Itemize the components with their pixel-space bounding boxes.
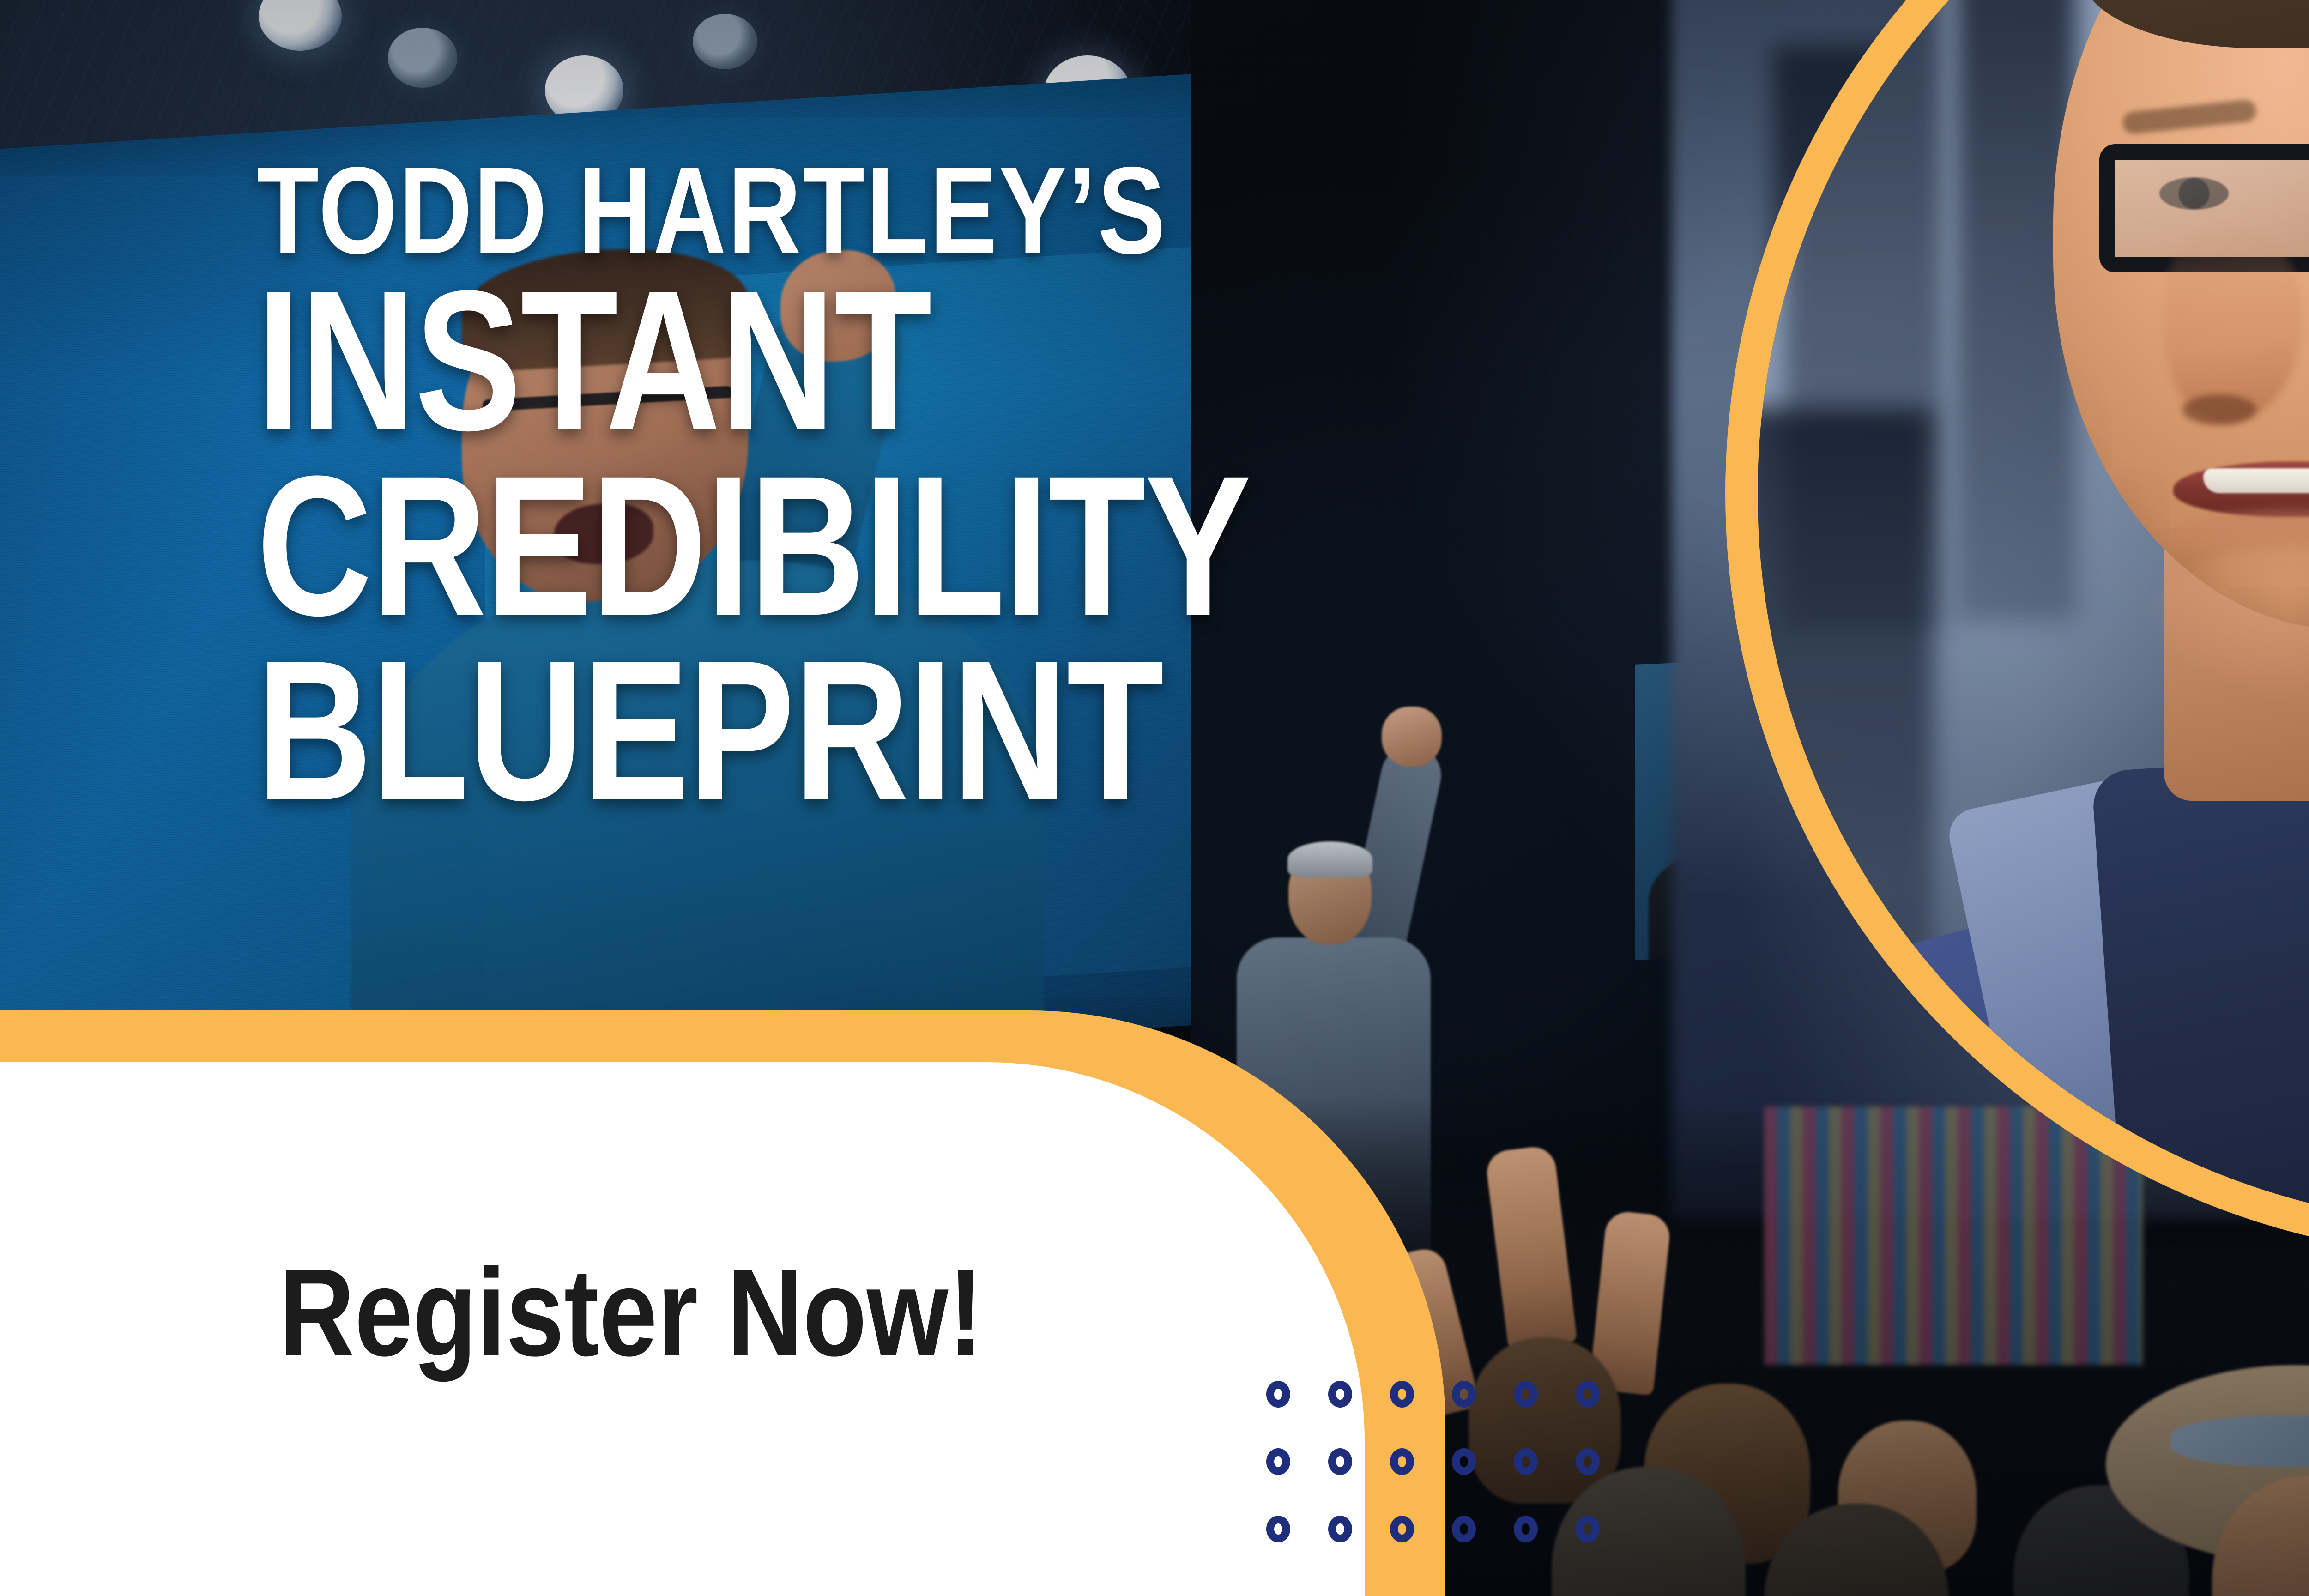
promo-banner: TODD HARTLEY’S INSTANT CREDIBILITY BLUEP… [0, 0, 2309, 1596]
dot-ring-icon [1390, 1516, 1414, 1542]
dot-ring-icon [1452, 1516, 1476, 1542]
raised-hand [1484, 1144, 1577, 1350]
nostril [2182, 394, 2256, 425]
dot-ring-icon [1576, 1381, 1600, 1408]
stage-light [693, 14, 757, 69]
dot-ring-icon [1576, 1516, 1600, 1542]
dot-ring-icon [1452, 1448, 1476, 1475]
headline-line-2: CREDIBILITY [257, 450, 1402, 642]
dot-ring-icon [1390, 1381, 1414, 1408]
dot-ring-icon [1266, 1381, 1290, 1408]
dot-ring-icon [1266, 1516, 1290, 1542]
headline-block: TODD HARTLEY’S INSTANT CREDIBILITY BLUEP… [257, 152, 1688, 827]
dot-ring-icon [1328, 1448, 1352, 1475]
dot-ring-icon [1328, 1516, 1352, 1542]
dot-ring-icon [1390, 1448, 1414, 1475]
dot-ring-icon [1452, 1381, 1476, 1408]
dot-ring-icon [1266, 1448, 1290, 1475]
headline-line-3: BLUEPRINT [257, 635, 1402, 827]
stage-light [388, 28, 457, 88]
register-now-cta[interactable]: Register Now! [279, 1251, 983, 1375]
dot-ring-icon [1514, 1448, 1538, 1475]
dot-ring-icon [1514, 1516, 1538, 1542]
speaker-portrait [1758, 0, 2309, 1226]
dot-ring-icon [1328, 1381, 1352, 1408]
dot-grid-bottom-middle [1266, 1381, 1638, 1583]
dot-ring-icon [1576, 1448, 1600, 1475]
teeth [2203, 468, 2309, 493]
headline-line-1: INSTANT [257, 265, 1402, 457]
dress-shirt [2091, 747, 2309, 1226]
dot-ring-icon [1514, 1381, 1538, 1408]
